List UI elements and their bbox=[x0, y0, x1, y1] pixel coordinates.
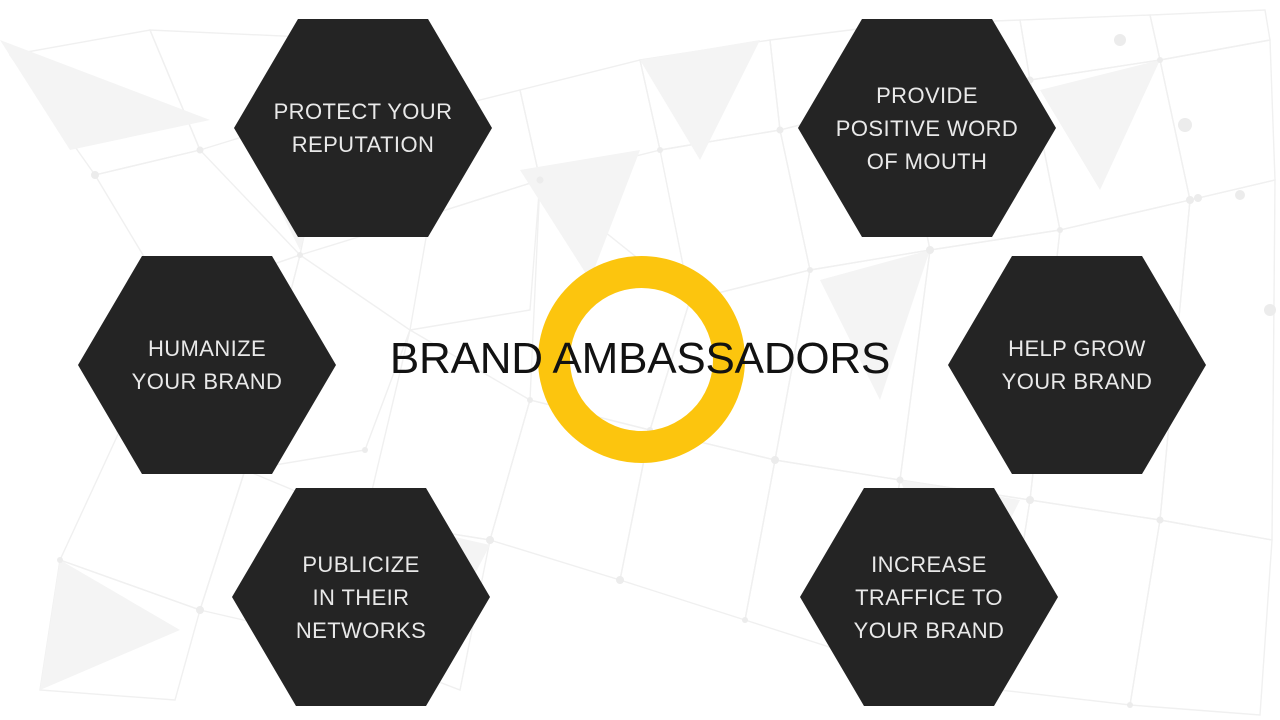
hexagon-positive-word[interactable]: PROVIDE POSITIVE WORD OF MOUTH bbox=[798, 19, 1056, 237]
hexagon-label: INCREASE TRAFFICE TO YOUR BRAND bbox=[826, 548, 1033, 647]
page-title: BRAND AMBASSADORS bbox=[0, 332, 1280, 386]
hexagon-label: PROVIDE POSITIVE WORD OF MOUTH bbox=[808, 79, 1046, 178]
hexagon-label: PROTECT YOUR REPUTATION bbox=[246, 95, 481, 161]
hexagon-label: PUBLICIZE IN THEIR NETWORKS bbox=[268, 548, 454, 647]
infographic-canvas: PROTECT YOUR REPUTATION PROVIDE POSITIVE… bbox=[0, 0, 1280, 720]
hexagon-publicize-networks[interactable]: PUBLICIZE IN THEIR NETWORKS bbox=[232, 488, 490, 706]
hexagon-increase-traffic[interactable]: INCREASE TRAFFICE TO YOUR BRAND bbox=[800, 488, 1058, 706]
hexagon-protect-reputation[interactable]: PROTECT YOUR REPUTATION bbox=[234, 19, 492, 237]
